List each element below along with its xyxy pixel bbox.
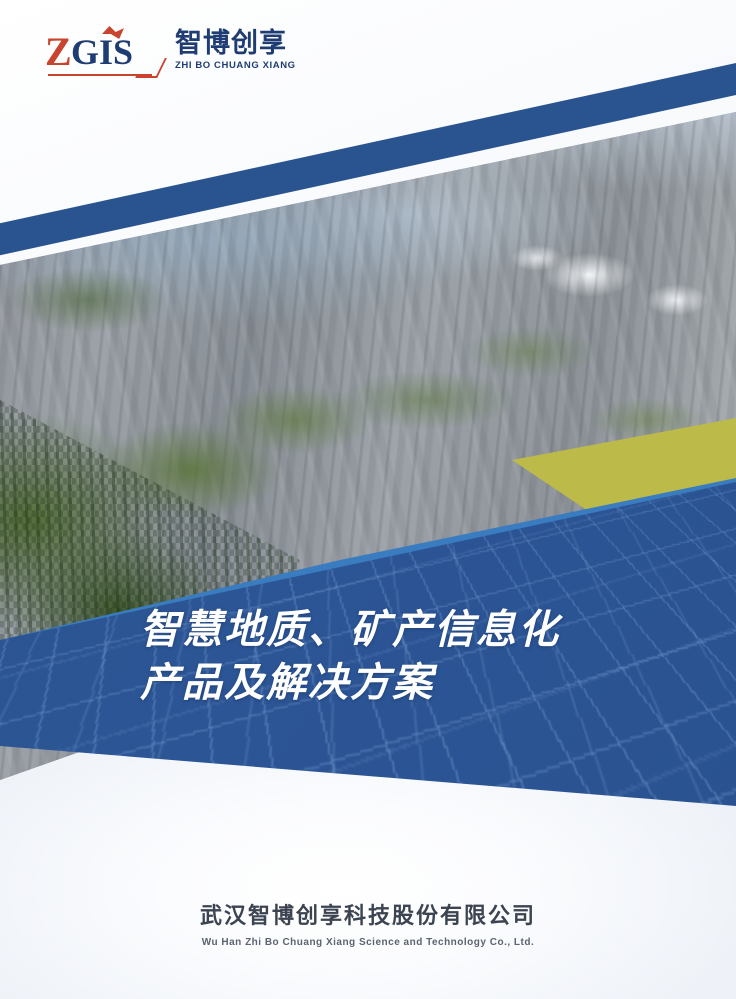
logo-letters-gis: GIS (71, 34, 133, 70)
logo-text-column: 智博创享 ZHI BO CHUANG XIANG (175, 30, 296, 74)
company-name-en: Wu Han Zhi Bo Chuang Xiang Science and T… (0, 937, 736, 948)
cover-page: Z GIS 智博创享 ZHI BO CHUANG XIANG 智慧地质、矿产信息… (0, 0, 736, 999)
brand-name-cn: 智博创享 (175, 30, 296, 58)
page-title-line-2: 产品及解决方案 (140, 657, 560, 710)
company-name-cn: 武汉智博创享科技股份有限公司 (0, 898, 736, 930)
logo-underline-arrow-icon (48, 68, 160, 77)
logo-mark: Z GIS (45, 26, 163, 74)
brand-name-pinyin: ZHI BO CHUANG XIANG (175, 60, 296, 71)
page-title-line-1: 智慧地质、矿产信息化 (140, 604, 560, 657)
logo-letter-z: Z (45, 32, 71, 72)
brand-logo[interactable]: Z GIS 智博创享 ZHI BO CHUANG XIANG (45, 26, 296, 74)
footer: 武汉智博创享科技股份有限公司 Wu Han Zhi Bo Chuang Xian… (0, 898, 736, 948)
page-title: 智慧地质、矿产信息化 产品及解决方案 (140, 604, 560, 710)
